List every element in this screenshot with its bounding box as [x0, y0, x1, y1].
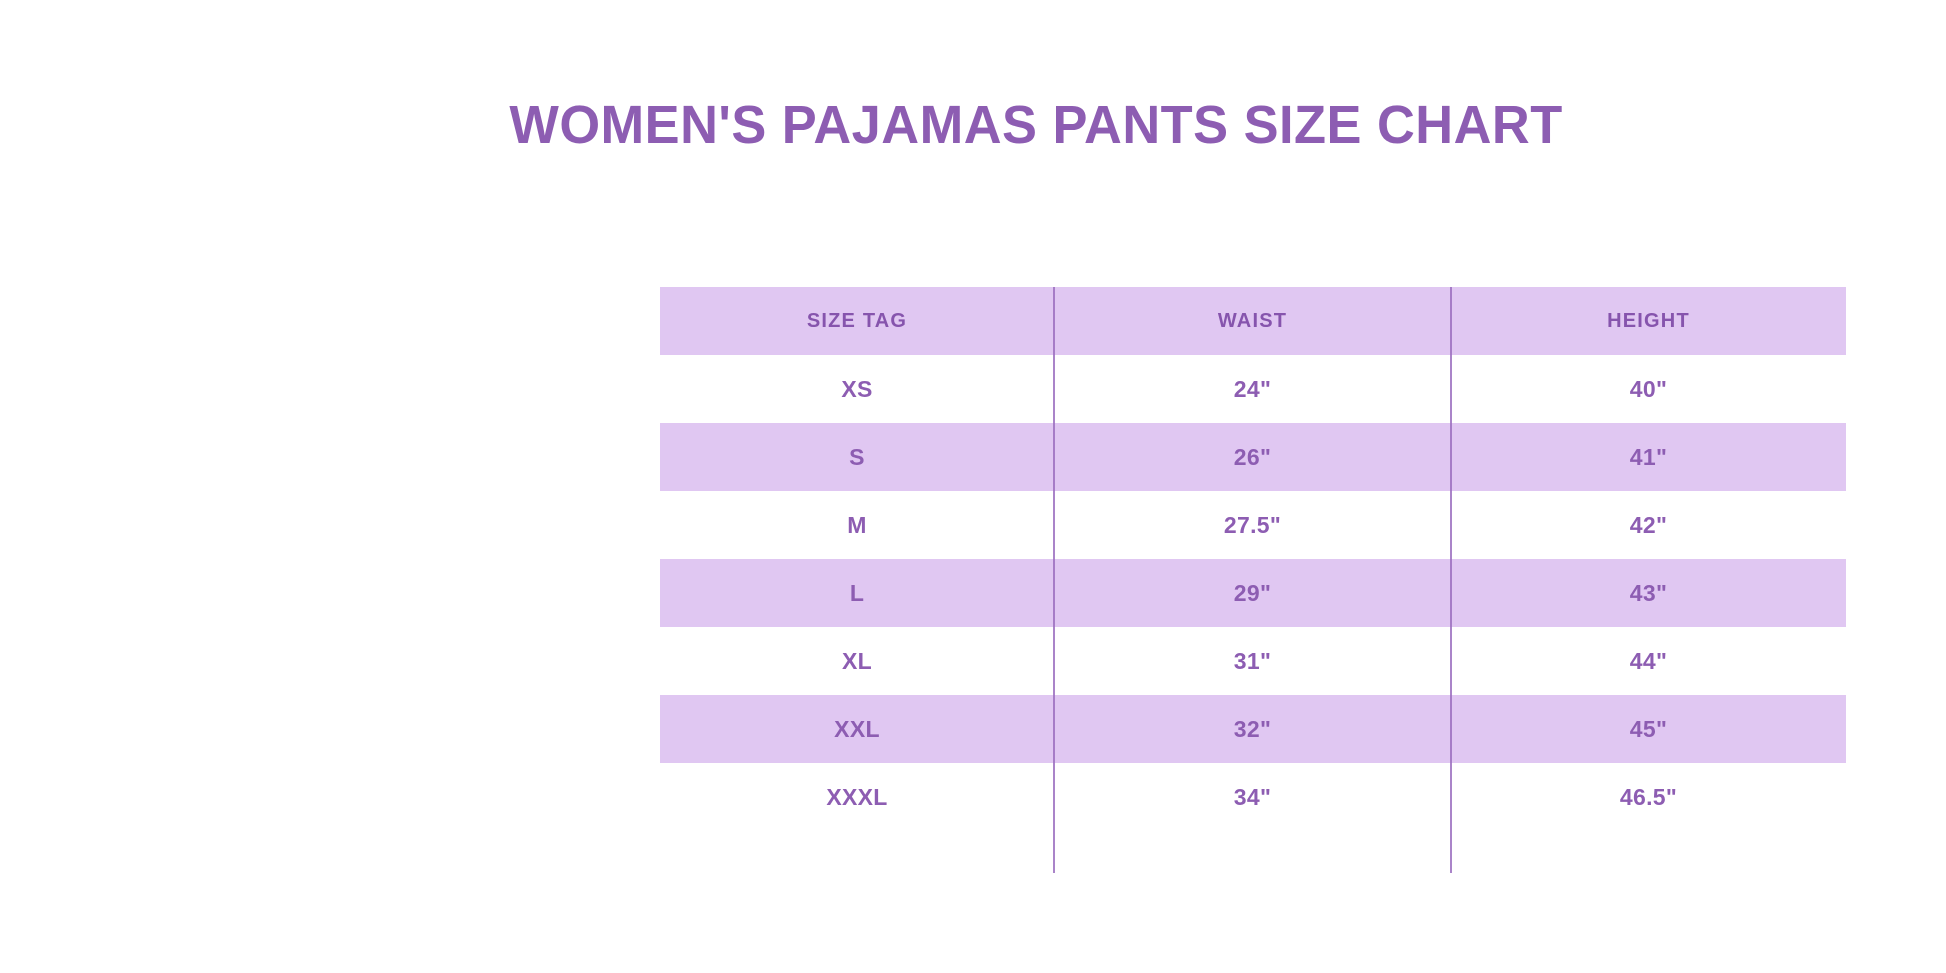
column-header-height: HEIGHT — [1451, 287, 1846, 355]
table-row: XL 31" 44" — [660, 627, 1846, 695]
cell-height: 45" — [1451, 695, 1846, 763]
cell-waist: 34" — [1054, 763, 1451, 831]
column-header-waist: WAIST — [1054, 287, 1451, 355]
table-row: XXL 32" 45" — [660, 695, 1846, 763]
cell-height: 41" — [1451, 423, 1846, 491]
table-body: XS 24" 40" S 26" 41" M 27.5" 42" L 29" 4… — [660, 355, 1846, 831]
table-row: XS 24" 40" — [660, 355, 1846, 423]
cell-size-tag: XXXL — [660, 763, 1054, 831]
size-chart-page: WOMEN'S PAJAMAS PANTS SIZE CHART SIZE TA… — [0, 0, 1946, 973]
column-header-size-tag: SIZE TAG — [660, 287, 1054, 355]
table-row: M 27.5" 42" — [660, 491, 1846, 559]
cell-size-tag: XL — [660, 627, 1054, 695]
cell-waist: 26" — [1054, 423, 1451, 491]
cell-height: 42" — [1451, 491, 1846, 559]
cell-waist: 24" — [1054, 355, 1451, 423]
cell-size-tag: S — [660, 423, 1054, 491]
table-row: L 29" 43" — [660, 559, 1846, 627]
cell-size-tag: XXL — [660, 695, 1054, 763]
column-divider-2 — [1450, 287, 1452, 873]
size-chart-table: SIZE TAG WAIST HEIGHT XS 24" 40" S 26" 4… — [660, 287, 1846, 831]
cell-size-tag: L — [660, 559, 1054, 627]
cell-waist: 29" — [1054, 559, 1451, 627]
cell-height: 43" — [1451, 559, 1846, 627]
table-row: S 26" 41" — [660, 423, 1846, 491]
cell-height: 40" — [1451, 355, 1846, 423]
cell-size-tag: XS — [660, 355, 1054, 423]
column-divider-1 — [1053, 287, 1055, 873]
table-row: XXXL 34" 46.5" — [660, 763, 1846, 831]
cell-waist: 27.5" — [1054, 491, 1451, 559]
cell-waist: 31" — [1054, 627, 1451, 695]
table-header-row: SIZE TAG WAIST HEIGHT — [660, 287, 1846, 355]
table-header: SIZE TAG WAIST HEIGHT — [660, 287, 1846, 355]
cell-waist: 32" — [1054, 695, 1451, 763]
cell-height: 46.5" — [1451, 763, 1846, 831]
page-title: WOMEN'S PAJAMAS PANTS SIZE CHART — [29, 96, 1917, 154]
cell-height: 44" — [1451, 627, 1846, 695]
cell-size-tag: M — [660, 491, 1054, 559]
